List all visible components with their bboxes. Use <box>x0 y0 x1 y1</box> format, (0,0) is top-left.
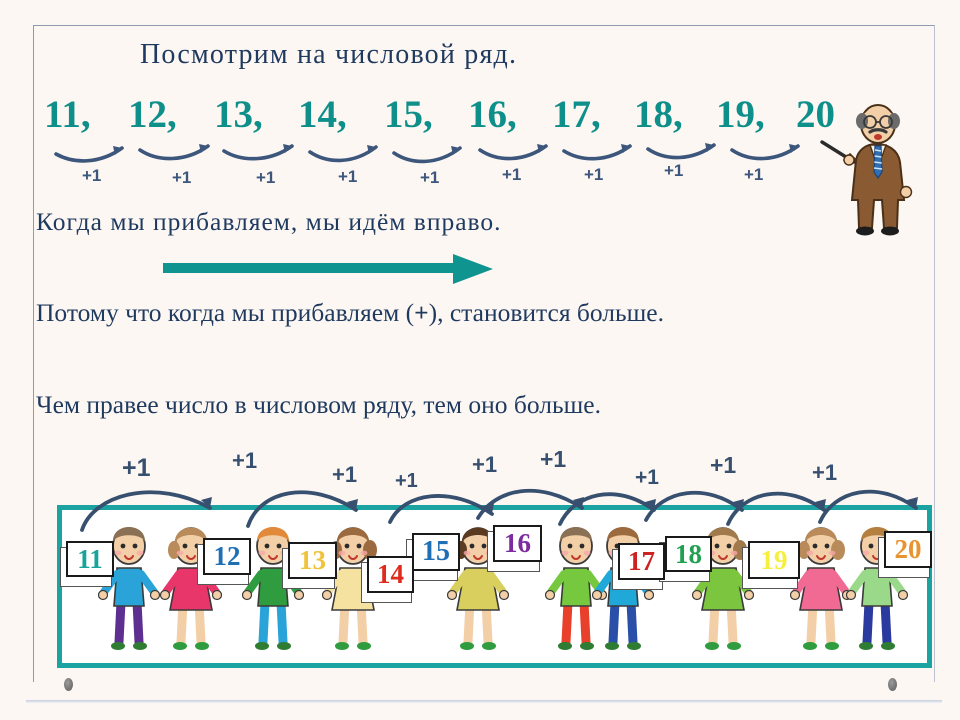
p2-before: Потому что когда мы прибавляем ( <box>36 298 414 327</box>
illus-step-label-8: +1 <box>710 452 736 479</box>
number-card-19[interactable]: 19 <box>748 541 800 579</box>
girl-pink-dress <box>160 510 222 661</box>
girl-pink-dress-2 <box>790 510 852 661</box>
number-card-12[interactable]: 12 <box>203 538 251 575</box>
step-label-3: +1 <box>256 168 275 188</box>
illus-step-label-6: +1 <box>540 446 566 473</box>
illus-step-label-1: +1 <box>122 454 151 483</box>
number-card-18[interactable]: 18 <box>665 536 712 572</box>
slide-baseline <box>26 700 942 703</box>
page-title: Посмотрим на числовой ряд. <box>140 39 517 71</box>
sequence-number-19: 19, <box>716 95 765 134</box>
step-label-8: +1 <box>664 161 683 181</box>
number-card-20[interactable]: 20 <box>884 531 932 568</box>
paragraph-because-adding: Потому что когда мы прибавляем (+), стан… <box>36 297 916 330</box>
illus-step-label-5: +1 <box>472 452 497 478</box>
sequence-number-18: 18, <box>634 95 683 134</box>
step-label-5: +1 <box>420 168 439 188</box>
number-card-15[interactable]: 15 <box>412 533 460 571</box>
number-card-11[interactable]: 11 <box>66 541 114 577</box>
top-step-arrows: +1 +1 +1 +1 +1 +1 +1 +1 +1 <box>44 136 824 188</box>
step-label-9: +1 <box>744 165 763 185</box>
sequence-number-14: 14, <box>298 95 347 134</box>
illus-step-label-3: +1 <box>332 462 357 488</box>
illus-step-label-4: +1 <box>395 470 418 493</box>
right-arrow-icon <box>163 252 493 291</box>
teacher-with-pointer-icon <box>818 88 938 238</box>
sequence-number-11: 11, <box>44 95 91 134</box>
p2-plus-sign: + <box>414 298 429 327</box>
slide-canvas: Посмотрим на числовой ряд. 11,12,13,14,1… <box>0 0 960 720</box>
decoration-dot-right <box>888 678 897 691</box>
illus-step-label-7: +1 <box>635 466 659 490</box>
paragraph-further-right-bigger: Чем правее число в числовом ряду, тем он… <box>36 389 916 422</box>
illus-step-label-9: +1 <box>812 460 837 486</box>
sequence-number-13: 13, <box>214 95 263 134</box>
step-label-7: +1 <box>584 165 603 185</box>
p2-after: ), становится больше. <box>429 298 664 327</box>
step-label-1: +1 <box>82 166 101 186</box>
sequence-number-12: 12, <box>128 95 177 134</box>
illus-step-label-2: +1 <box>232 448 257 474</box>
sequence-number-17: 17, <box>552 95 601 134</box>
sequence-number-16: 16, <box>468 95 517 134</box>
sequence-number-15: 15, <box>384 95 433 134</box>
bottom-step-arrows: +1 +1 +1 +1 +1 +1 +1 +1 +1 <box>60 452 940 532</box>
step-label-2: +1 <box>172 168 191 188</box>
number-card-14[interactable]: 14 <box>367 556 414 593</box>
step-label-6: +1 <box>502 165 521 185</box>
number-card-13[interactable]: 13 <box>288 542 337 579</box>
paragraph-when-we-add: Когда мы прибавляем, мы идём вправо. <box>36 206 736 239</box>
decoration-dot-left <box>64 678 73 691</box>
number-card-17[interactable]: 17 <box>618 543 665 580</box>
step-label-4: +1 <box>338 167 357 187</box>
number-sequence: 11,12,13,14,15,16,17,18,19,20 <box>44 95 804 137</box>
